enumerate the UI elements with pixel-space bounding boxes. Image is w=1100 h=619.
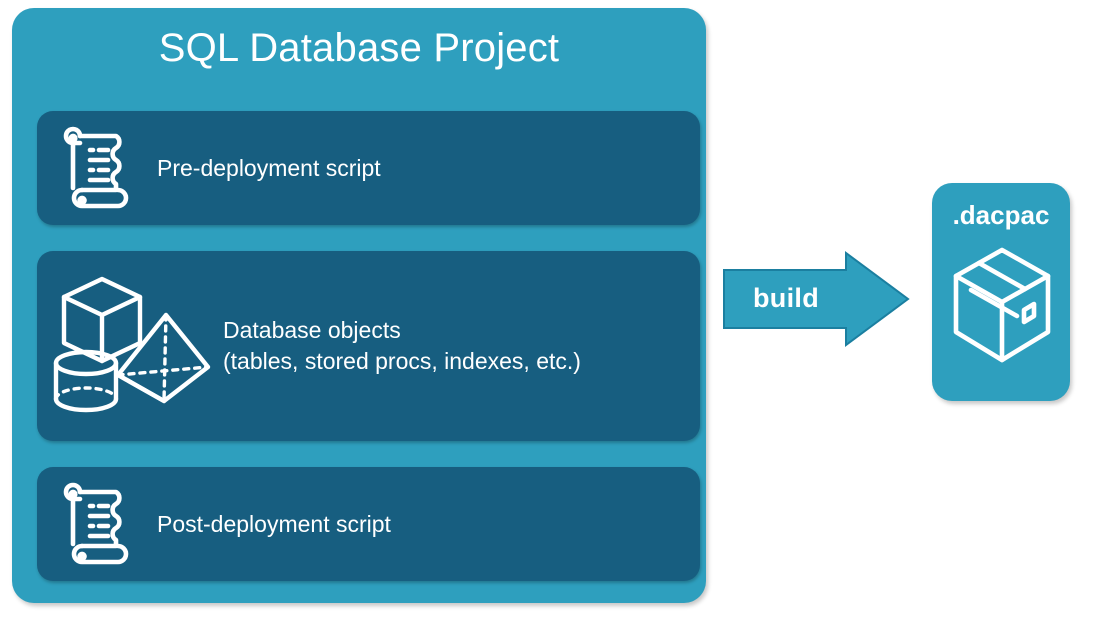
card-post-deployment-label: Post-deployment script	[157, 509, 391, 540]
scroll-icon	[37, 474, 157, 574]
page-title: SQL Database Project	[12, 22, 706, 74]
dacpac-title: .dacpac	[932, 199, 1070, 231]
card-pre-deployment-label: Pre-deployment script	[157, 153, 381, 184]
3d-shapes-icon	[37, 261, 217, 431]
card-database-objects[interactable]: Database objects (tables, stored procs, …	[37, 251, 700, 441]
card-pre-deployment-script[interactable]: Pre-deployment script	[37, 111, 700, 225]
card-database-objects-label: Database objects (tables, stored procs, …	[223, 315, 581, 377]
scroll-icon	[37, 118, 157, 218]
sql-database-project-container: SQL Database Project Pre-deplo	[12, 8, 706, 603]
dacpac-output-card[interactable]: .dacpac	[932, 183, 1070, 401]
build-arrow-label: build	[722, 281, 850, 315]
package-box-icon	[948, 240, 1056, 370]
card-post-deployment-script[interactable]: Post-deployment script	[37, 467, 700, 581]
